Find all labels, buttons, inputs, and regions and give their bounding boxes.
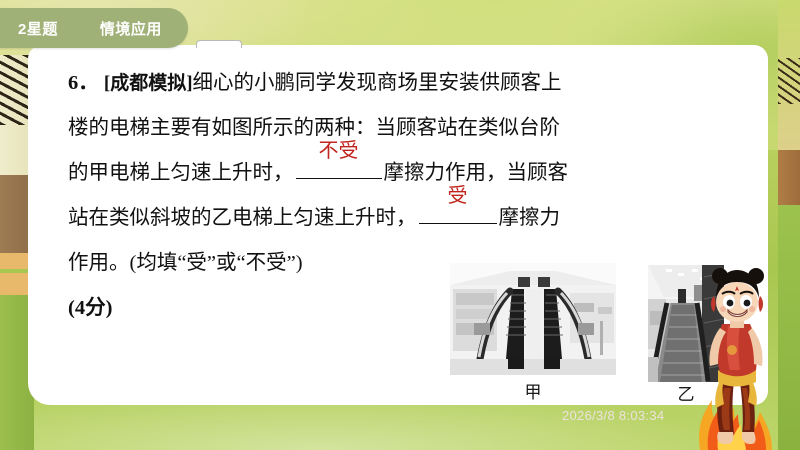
question-number: 6． bbox=[68, 72, 99, 94]
figure-jia-caption: 甲 bbox=[450, 378, 616, 403]
question-line-4-text-a: 站在类似斜坡的乙电梯上匀速上升时， bbox=[68, 207, 417, 229]
question-line-2: 楼的电梯主要有如图所示的两种：当顾客站在类似台阶 bbox=[68, 106, 758, 151]
flame-decor bbox=[699, 400, 772, 450]
question-points: (4分) bbox=[68, 297, 112, 319]
header-tag: 2星题 情境应用 bbox=[0, 8, 188, 48]
mascot-character bbox=[694, 262, 780, 450]
decor-right-strip-green bbox=[778, 205, 800, 450]
answer-text-2: 受 bbox=[419, 174, 497, 219]
decor-right-strip-brown bbox=[778, 150, 800, 205]
answer-blank-2[interactable]: 受 bbox=[419, 223, 497, 224]
category-label: 情境应用 bbox=[100, 18, 162, 39]
difficulty-label: 2星题 bbox=[18, 18, 58, 39]
nezha-mascot-icon bbox=[694, 262, 780, 450]
question-line-5-text: 作用。(均填“受”或“不受”) bbox=[68, 252, 303, 274]
question-line-4-text-b: 摩擦力 bbox=[499, 207, 561, 229]
question-line-3-text-a: 的甲电梯上匀速上升时， bbox=[68, 162, 294, 184]
card-notch bbox=[196, 40, 242, 48]
question-line-4: 站在类似斜坡的乙电梯上匀速上升时，受摩擦力 bbox=[68, 196, 758, 241]
timestamp-watermark: 2026/3/8 8:03:34 bbox=[562, 408, 664, 423]
question-source: [成都模拟] bbox=[104, 73, 193, 94]
question-line-3: 的甲电梯上匀速上升时，不受摩擦力作用，当顾客 bbox=[68, 151, 758, 196]
answer-text-1: 不受 bbox=[296, 129, 382, 174]
question-line-1-text: 细心的小鹏同学发现商场里安装供顾客上 bbox=[193, 72, 562, 94]
step-escalator-icon bbox=[450, 263, 616, 375]
figure-jia-image bbox=[450, 263, 616, 375]
answer-blank-1[interactable]: 不受 bbox=[296, 178, 382, 179]
question-line-1: 6． [成都模拟]细心的小鹏同学发现商场里安装供顾客上 bbox=[68, 61, 758, 106]
slide-stage: 2星题 情境应用 6． [成都模拟]细心的小鹏同学发现商场里安装供顾客上 楼的电… bbox=[0, 0, 800, 450]
decor-right-strip-stripes bbox=[778, 58, 800, 104]
